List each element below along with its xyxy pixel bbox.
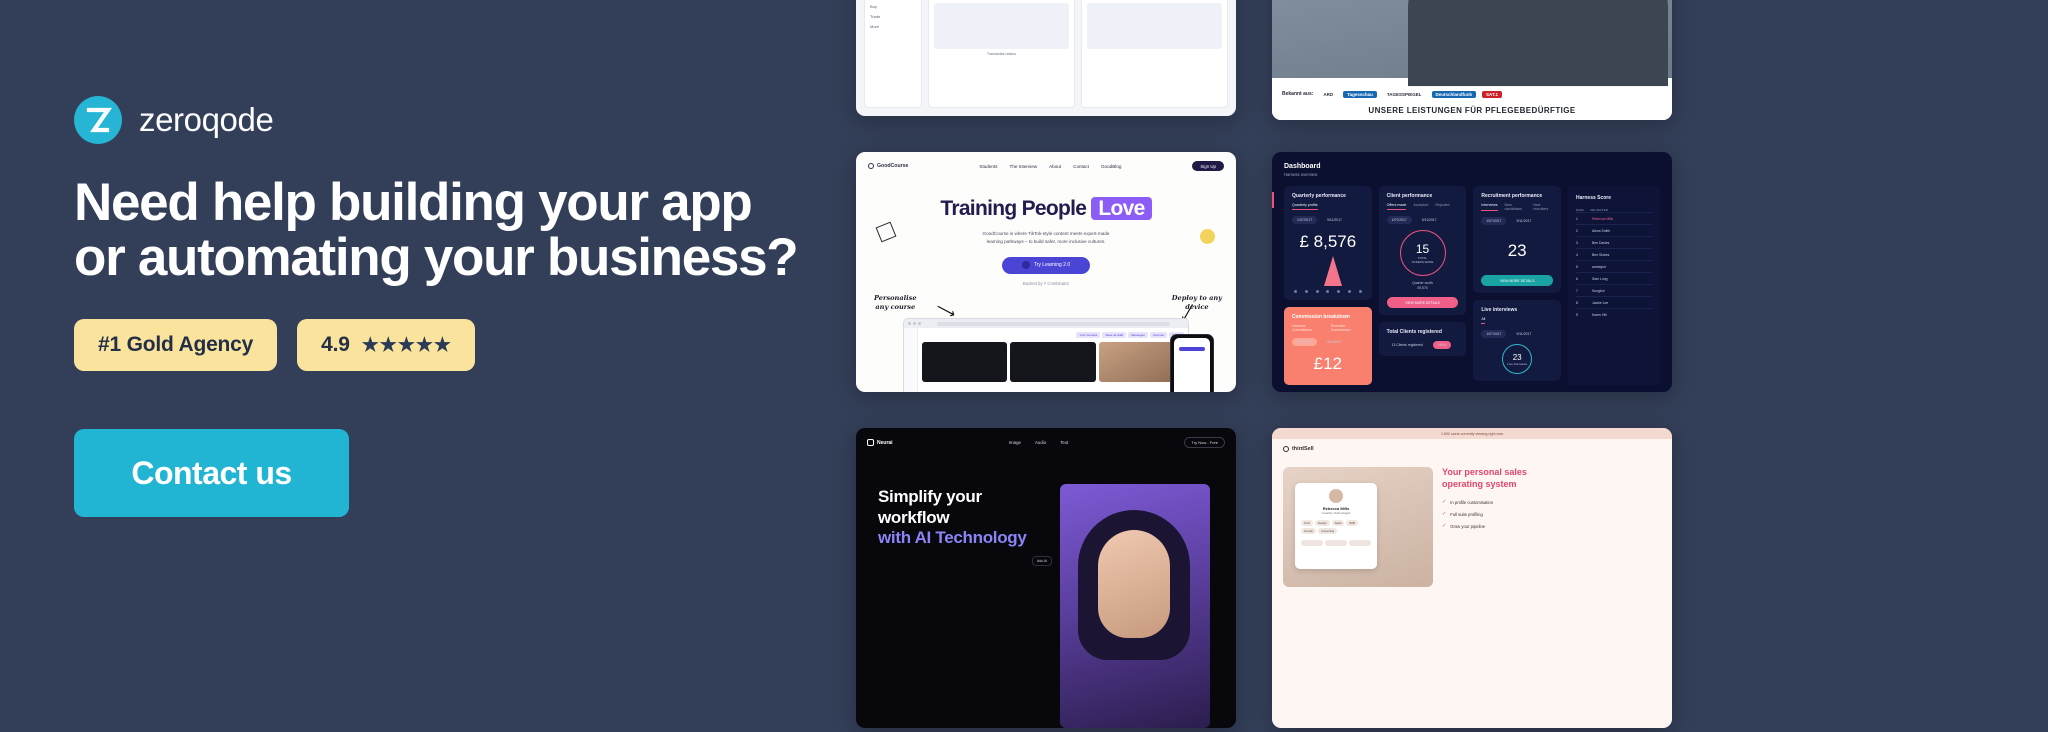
view-details-button[interactable]: VIEW MORE DETAILS: [1481, 275, 1553, 286]
star-icon: ★: [416, 336, 433, 355]
rank-cell: 5: [1576, 265, 1586, 269]
table-row[interactable]: 2Alexa Smith: [1576, 224, 1652, 236]
goodcourse-nav-item[interactable]: About: [1049, 164, 1061, 169]
view-button[interactable]: VIEW: [1433, 341, 1452, 349]
goodcourse-navbar: GoodCourse Students The Interview About …: [856, 152, 1236, 180]
goodcourse-browser-mock: Your Courses Save as draft Messages Cour…: [903, 318, 1189, 392]
headline-line-2: or automating your business?: [74, 231, 830, 286]
dashboard-card-commission: Commission breakdown Harness Commission …: [1284, 307, 1372, 385]
rank-cell: 8: [1576, 301, 1586, 305]
check-icon: ✓: [1442, 511, 1446, 517]
care-caption: UNSERE LEISTUNGEN FÜR PFLEGEBEDÜRFTIGE: [1272, 100, 1672, 120]
goodcourse-button-label: Try Learning 2.0: [1034, 262, 1070, 268]
care-logo: Tagesschau: [1343, 91, 1377, 98]
name-cell: Alexa Smith: [1592, 229, 1610, 233]
goodcourse-nav-item[interactable]: Students: [979, 164, 997, 169]
goodcourse-nav-item[interactable]: The Interview: [1010, 164, 1038, 169]
neurai-nav-item[interactable]: Audio: [1035, 440, 1046, 445]
name-cell: Ben Stokes: [1592, 253, 1609, 257]
goodcourse-hero: Training People Love GoodCourse is where…: [856, 197, 1236, 286]
goodcourse-title-highlight: Love: [1091, 197, 1151, 220]
date-pill[interactable]: 1/07/2017: [1292, 338, 1317, 346]
crypto-menu-item[interactable]: More: [870, 24, 916, 29]
care-logo: TAGESSPIEGEL: [1383, 91, 1426, 98]
table-row[interactable]: 8Jackie Lee: [1576, 296, 1652, 308]
table-row[interactable]: 7Sungboi: [1576, 284, 1652, 296]
table-row[interactable]: 5anetaylor: [1576, 260, 1652, 272]
care-photo: [1272, 0, 1672, 78]
course-card: [1010, 342, 1095, 382]
neurai-hero-image: [1060, 484, 1210, 728]
contact-us-button[interactable]: Contact us: [74, 429, 349, 517]
card-value: £ 8,576: [1292, 232, 1364, 252]
rank-cell: 3: [1576, 241, 1586, 245]
card-heading: Live interviews: [1481, 307, 1553, 313]
rank-cell: 9: [1576, 313, 1586, 317]
date-pill[interactable]: 1/07/2017: [1292, 216, 1317, 224]
name-cell: Jackie Lee: [1592, 301, 1608, 305]
dashboard-card-quarterly: Quarterly performance Quarterly profits …: [1284, 186, 1372, 300]
date-pill[interactable]: 9/11/2017: [1417, 216, 1442, 224]
sparkline-chart: [1292, 256, 1364, 290]
name-cell: Karen Hill: [1592, 313, 1607, 317]
bullet-label: Grow your pipeline: [1450, 524, 1485, 529]
neurai-nav-item[interactable]: Text: [1060, 440, 1068, 445]
thirdsell-profile-card: Rebecca Mills Creative Technologist Tech…: [1295, 483, 1377, 569]
play-icon: [1022, 261, 1030, 269]
portfolio-card-thirdsell[interactable]: 1,592 users currently viewing right now …: [1272, 428, 1672, 728]
profile-tag: B2B: [1346, 520, 1357, 526]
goodcourse-browser-tabs: Your Courses Save as draft Messages Cour…: [922, 332, 1184, 338]
name-cell: Ben Davies: [1592, 241, 1609, 245]
browser-sidebar: [904, 328, 918, 392]
check-icon: ✓: [1442, 499, 1446, 505]
headline-line: Your personal sales: [1442, 467, 1661, 479]
card-heading: Recruitment performance: [1481, 193, 1553, 199]
neurai-ask-ai-chip[interactable]: Ask AI: [1032, 556, 1052, 566]
goodcourse-subtitle-line: learning pathways – to build safer, more…: [856, 238, 1236, 246]
headline-line-1: Need help building your app: [74, 176, 830, 231]
card-tab[interactable]: Interviews: [1481, 203, 1497, 211]
thirdsell-dot-icon: [1283, 446, 1289, 452]
browser-url-bar[interactable]: [937, 322, 1170, 326]
rank-cell: 7: [1576, 289, 1586, 293]
card-heading: Quarterly performance: [1292, 193, 1364, 199]
profile-tag: SaaS: [1332, 520, 1345, 526]
date-pill[interactable]: 9/11/2017: [1511, 330, 1536, 338]
star-icon: ★: [398, 336, 415, 355]
rating-value: 4.9: [321, 333, 350, 357]
care-logo: ARD: [1319, 91, 1337, 98]
goodcourse-subtitle-line: GoodCourse is where TikTok-style content…: [856, 230, 1236, 238]
dashboard-card-total-clients: Total Clients registered 13 Clients regi…: [1379, 322, 1467, 356]
annotation-line: any course: [874, 303, 917, 312]
star-icon: ★: [362, 336, 379, 355]
page-title: Need help building your app or automatin…: [74, 176, 830, 285]
card-tab[interactable]: New recruiters: [1533, 203, 1553, 211]
card-heading: Total Clients registered: [1387, 329, 1459, 335]
browser-tab[interactable]: Messages: [1128, 332, 1148, 338]
table-row[interactable]: 1Rebecca Mills: [1576, 212, 1652, 224]
name-cell: anetaylor: [1592, 265, 1606, 269]
card-tab[interactable]: Quarterly profits: [1292, 203, 1318, 210]
course-card: [922, 342, 1007, 382]
browser-tab[interactable]: Your Courses: [1076, 332, 1100, 338]
thirdsell-top-banner: 1,592 users currently viewing right now: [1272, 428, 1672, 439]
browser-tab[interactable]: Courses: [1150, 332, 1167, 338]
rank-cell: 1: [1576, 217, 1586, 221]
portfolio-card-neurai[interactable]: Neurai Image Audio Text Try Now - Free S…: [856, 428, 1236, 728]
status-badge-rating: 4.9 ★ ★ ★ ★ ★: [297, 319, 475, 371]
card-value: £12: [1292, 354, 1364, 374]
browser-titlebar: [904, 319, 1188, 328]
goodcourse-backed-by: Backed by Y Combinator: [856, 281, 1236, 286]
thirdsell-headline: Your personal sales operating system: [1442, 467, 1661, 490]
care-logo: SAT.1: [1482, 91, 1502, 98]
rank-cell: 6: [1576, 277, 1586, 281]
card-heading: Harness Score: [1576, 195, 1652, 201]
goodcourse-title-text: Training People: [940, 197, 1091, 220]
crypto-menu-item[interactable]: Buy: [870, 4, 916, 9]
annotation-line: Personalise: [874, 294, 917, 303]
share-button[interactable]: [1325, 540, 1347, 546]
zeroqode-z-logo-icon: [74, 96, 122, 144]
thirdsell-logo-label: thirdSell: [1292, 446, 1314, 452]
neurai-nav-links: Image Audio Text: [903, 440, 1175, 445]
dashboard-card-live-interviews: Live interviews All 1/07/2017 9/11/2017 …: [1473, 300, 1561, 381]
name-cell: Sam Long: [1592, 277, 1607, 281]
card-tab[interactable]: Rejected: [1435, 203, 1449, 210]
clients-count: 13 Clients registered: [1387, 341, 1428, 349]
date-pill[interactable]: 1/07/2017: [1481, 330, 1506, 338]
goodcourse-nav-item[interactable]: GoodBlog: [1101, 164, 1121, 169]
name-cell: Rebecca Mills: [1592, 217, 1613, 221]
card-tab[interactable]: Harness Commission: [1292, 324, 1324, 332]
rank-cell: 4: [1576, 253, 1586, 257]
headline-line: operating system: [1442, 479, 1661, 491]
thirdsell-navbar: thirdSell: [1272, 439, 1672, 459]
star-icon: ★: [434, 336, 451, 355]
goodcourse-subtitle: GoodCourse is where TikTok-style content…: [856, 230, 1236, 246]
profile-tag: Consulting: [1318, 528, 1337, 534]
brand-wordmark: zeroqode: [139, 101, 273, 139]
goodcourse-annotation-left: Personalise any course: [874, 294, 917, 312]
care-person-body: [1408, 0, 1668, 87]
dashboard-card-client: Client performance Offers made Accepted …: [1379, 186, 1467, 315]
bullet-label: In profile customisation: [1450, 500, 1493, 505]
neurai-nav-item[interactable]: Image: [1009, 440, 1021, 445]
date-pill[interactable]: 9/11/2017: [1322, 338, 1347, 346]
chart-caption: OFFERS MADE: [1412, 260, 1434, 264]
hero-panel: zeroqode Need help building your app or …: [0, 0, 830, 732]
goodcourse-try-learning-button[interactable]: Try Learning 2.0: [1002, 257, 1090, 274]
card-tab[interactable]: Accepted: [1413, 203, 1428, 210]
model-face: [1098, 530, 1170, 638]
avatar: [1329, 489, 1343, 503]
crypto-side-menu[interactable]: Wallets Buy Trade More: [864, 0, 922, 108]
chart-caption: Live Interviews: [1507, 362, 1527, 366]
profile-role: Creative Technologist: [1301, 511, 1371, 515]
card-value: 23: [1481, 241, 1553, 261]
bullet-item: ✓Full suite profiling: [1442, 511, 1661, 517]
column-header: RECRUITER: [1590, 208, 1608, 212]
neurai-logo-label: Neurai: [877, 440, 893, 446]
browser-tab[interactable]: Save as draft: [1102, 332, 1126, 338]
gold-agency-label: #1 Gold Agency: [98, 333, 253, 357]
star-icon: ★: [380, 336, 397, 355]
portfolio-collage: Extended wallet management Hello$0.97 BT…: [830, 0, 2048, 732]
annotation-line: Deploy to any: [1172, 294, 1222, 303]
badge-row: #1 Gold Agency 4.9 ★ ★ ★ ★ ★: [74, 319, 830, 371]
avatar: [1199, 228, 1216, 245]
donut-chart: 15 TOTAL OFFERS MADE: [1400, 230, 1446, 276]
goodcourse-logo[interactable]: GoodCourse: [868, 163, 908, 169]
profile-actions: [1301, 540, 1371, 546]
table-row[interactable]: 6Sam Long: [1576, 272, 1652, 284]
portfolio-card-crypto-dashboard[interactable]: Extended wallet management Hello$0.97 BT…: [856, 0, 1236, 116]
goodcourse-nav-item[interactable]: Contact: [1073, 164, 1089, 169]
dashboard-card-harness-score: Harness Score RANK RECRUITER 1Rebecca Mi…: [1568, 186, 1660, 385]
card-heading: Commission breakdown: [1292, 314, 1364, 320]
profile-tag: Growth: [1301, 528, 1316, 534]
bullet-label: Full suite profiling: [1450, 512, 1483, 517]
profile-tag: Tech: [1301, 520, 1313, 526]
card-heading: Client performance: [1387, 193, 1459, 199]
care-logo: Deutschlandfunk: [1432, 91, 1477, 98]
rank-cell: 2: [1576, 229, 1586, 233]
table-row[interactable]: 9Karen Hill: [1576, 308, 1652, 320]
message-button[interactable]: [1349, 540, 1371, 546]
neurai-try-now-button[interactable]: Try Now - Free: [1184, 437, 1225, 448]
profile-tags: Tech Design SaaS B2B Growth Consulting: [1301, 520, 1371, 534]
portfolio-card-recruitment-dashboard[interactable]: Dashboard Harness overview Quarterly per…: [1272, 152, 1672, 392]
goodcourse-title: Training People Love: [856, 197, 1236, 221]
date-pill[interactable]: 9/11/2017: [1322, 216, 1347, 224]
neurai-glyph-icon: [867, 439, 874, 446]
name-cell: Sungboi: [1592, 289, 1604, 293]
crypto-metamask-panel: Metamask actions: [1081, 0, 1228, 108]
care-logo-prefix: Bekannt aus:: [1282, 91, 1313, 97]
goodcourse-ring-icon: [868, 163, 874, 169]
check-icon: ✓: [1442, 523, 1446, 529]
crypto-menu-item[interactable]: Trade: [870, 14, 916, 19]
profile-tag: Design: [1315, 520, 1330, 526]
table-row[interactable]: 3Ben Davies: [1576, 236, 1652, 248]
follow-button[interactable]: [1301, 540, 1323, 546]
column-header: RANK: [1576, 208, 1584, 212]
card-tab[interactable]: Offers made: [1387, 203, 1407, 210]
goodcourse-logo-label: GoodCourse: [877, 163, 908, 169]
chart-value: 23: [1513, 353, 1522, 362]
neurai-navbar: Neurai Image Audio Text Try Now - Free: [856, 428, 1236, 457]
dashboard-accent-bar: [1272, 192, 1274, 208]
view-details-button[interactable]: VIEW MORE DETAILS: [1387, 297, 1459, 308]
chart-value: 15: [1416, 242, 1429, 256]
dashboard-card-recruitment: Recruitment performance Interviews New c…: [1473, 186, 1561, 293]
crypto-footer: Transaction status: [934, 52, 1069, 57]
status-badge-gold-agency: #1 Gold Agency: [74, 319, 277, 371]
card-footer: £9,575: [1387, 286, 1459, 291]
chart-axis: [1292, 290, 1364, 293]
rating-stars: ★ ★ ★ ★ ★: [362, 336, 451, 355]
portfolio-card-goodcourse[interactable]: GoodCourse Students The Interview About …: [856, 152, 1236, 392]
brand-logo[interactable]: zeroqode: [74, 96, 830, 144]
goodcourse-signup-button[interactable]: Sign Up: [1192, 161, 1224, 171]
goodcourse-nav-links: Students The Interview About Contact Goo…: [916, 164, 1184, 169]
dashboard-title: Dashboard: [1284, 163, 1660, 170]
card-tab[interactable]: Recruiter Commission: [1331, 324, 1364, 332]
bullet-item: ✓Grow your pipeline: [1442, 523, 1661, 529]
crypto-transactions-panel: Latest transactions Transaction status: [928, 0, 1075, 108]
date-pill[interactable]: 9/11/2017: [1511, 217, 1536, 225]
thirdsell-bullets: ✓In profile customisation ✓Full suite pr…: [1442, 499, 1661, 529]
date-pill[interactable]: 1/07/2017: [1387, 216, 1412, 224]
portfolio-card-care-service[interactable]: Bekannt aus: ARD Tagesschau TAGESSPIEGEL…: [1272, 0, 1672, 120]
goodcourse-phone-mock: [1170, 334, 1214, 392]
neurai-logo[interactable]: Neurai: [867, 439, 893, 446]
table-row[interactable]: 4Ben Stokes: [1576, 248, 1652, 260]
thirdsell-logo[interactable]: thirdSell: [1283, 446, 1314, 452]
thirdsell-photo: Rebecca Mills Creative Technologist Tech…: [1283, 467, 1433, 587]
bullet-item: ✓In profile customisation: [1442, 499, 1661, 505]
card-tab[interactable]: All: [1481, 317, 1485, 324]
date-pill[interactable]: 1/07/2017: [1481, 217, 1506, 225]
card-tab[interactable]: New candidates: [1505, 203, 1527, 211]
